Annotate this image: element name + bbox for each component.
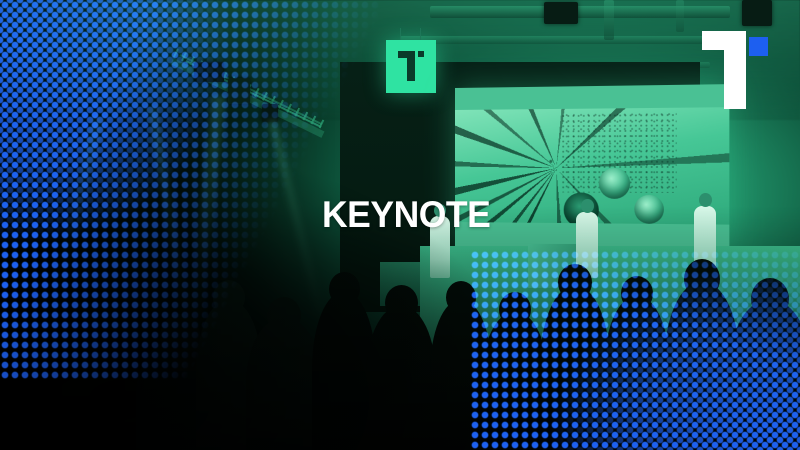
event-title-card: KEYNOTE — [0, 0, 800, 450]
stage-light-fixture — [228, 78, 250, 104]
audience-figure-head — [499, 292, 531, 327]
sign-wire — [400, 28, 401, 40]
ceiling-duct — [430, 6, 730, 18]
screen-avatar-bubble — [634, 195, 664, 224]
brand-logo-one — [702, 31, 762, 109]
logo-flag-icon — [702, 31, 726, 50]
audience-figure-head — [621, 276, 653, 311]
audience-figure-head — [329, 272, 360, 306]
logo-accent-square-icon — [749, 37, 768, 56]
audience-figure — [604, 296, 670, 450]
hanging-brand-sign — [386, 40, 436, 93]
audience-figure-head — [76, 344, 122, 395]
audience-figure — [540, 286, 610, 450]
stage-light-fixture — [544, 2, 578, 24]
stage-light-fixture — [742, 0, 772, 26]
audience-figure-head — [385, 285, 418, 321]
sign-wire — [420, 28, 421, 40]
projection-screen-top-band — [455, 84, 729, 110]
audience-figure — [728, 300, 800, 450]
audience-figure-head — [12, 326, 56, 374]
audience-figure — [366, 306, 436, 450]
audience-figure-head — [213, 280, 245, 315]
audience-figure-head — [267, 297, 301, 334]
ceiling-hanger — [676, 0, 684, 32]
audience-figure-head — [558, 264, 592, 301]
screen-avatar-bubble — [599, 168, 630, 199]
ceiling-hanger — [604, 0, 614, 40]
audience-figure-head — [751, 278, 789, 320]
audience-figure-head — [446, 281, 476, 314]
audience-figure — [482, 312, 548, 450]
audience-figure-head — [684, 259, 720, 299]
stage-light-fixture — [194, 62, 224, 82]
stage-speaker-head — [581, 199, 594, 213]
logo-stem-icon — [724, 31, 746, 109]
ceiling-duct — [400, 36, 730, 44]
brand-one-icon — [398, 51, 424, 83]
audience-figure — [246, 318, 322, 450]
audience-figure-head — [160, 314, 200, 358]
page-title: KEYNOTE — [322, 196, 490, 234]
stage-speaker-head — [699, 193, 712, 207]
